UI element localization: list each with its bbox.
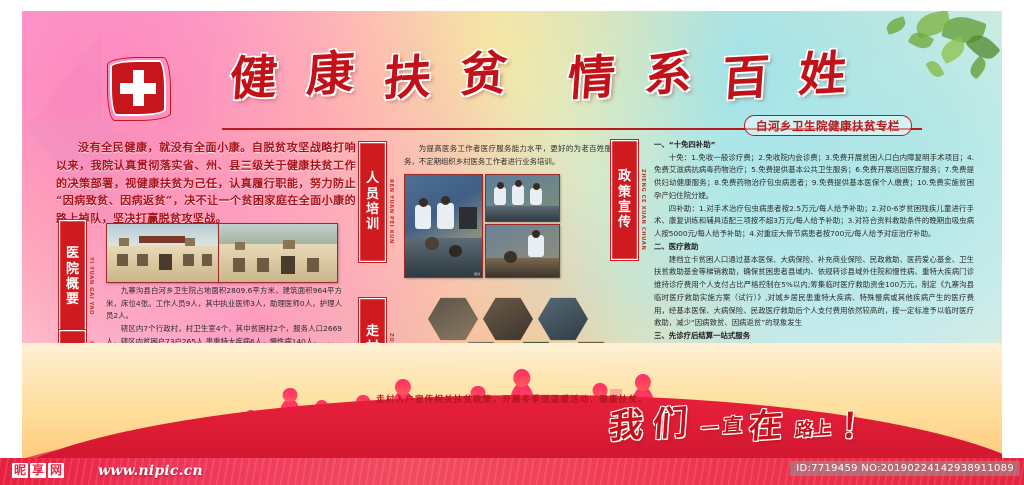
- slogan-char-2: 们: [652, 406, 689, 442]
- photo-village-visit-3: [538, 297, 588, 341]
- policy-heading-text: 一、“十免四补助”: [654, 140, 715, 149]
- photo-village-visit-2: [483, 297, 533, 341]
- hospital-overview-text: 九寨沟县白河乡卫生院占地面积2809.6平方米，建筑面积964平方米，床位4张。…: [106, 285, 342, 349]
- seal-staff-training: 人 员 培 训: [358, 141, 387, 263]
- seal-pinyin-staff-training: REN YUAN PEI XUN: [388, 179, 394, 245]
- slogan-char-4: 直: [722, 416, 742, 436]
- slogan-char-1: 我: [608, 408, 645, 444]
- slogan-char-3: 一: [700, 420, 718, 438]
- seal-char: 走: [366, 324, 379, 339]
- slogan-char-5: 在: [748, 408, 784, 443]
- watermark-url: www.nipic.cn: [98, 463, 203, 479]
- seal-char: 政: [618, 169, 631, 184]
- seal-char: 传: [618, 215, 631, 230]
- policy-body: 四补助：1.对手术治疗包虫病患者按2.5万元/每人给予补助；2.对0-6岁贫困残…: [654, 203, 974, 241]
- logo-char: 享: [30, 463, 46, 478]
- watermark-id-label: ID:7719459 NO:20190224142938911089: [790, 461, 1020, 476]
- photo-village-visit-1: [428, 297, 478, 341]
- bottom-slogan-calligraphy: 我 们 一 直 在 路上 ！: [607, 407, 937, 455]
- title-char-5: 情: [566, 54, 617, 103]
- title-char-4: 贫: [458, 50, 509, 99]
- lead-paragraph: 没有全民健康，就没有全面小康。自脱贫攻坚战略打响以来，我院认真贯彻落实省、州、县…: [56, 139, 356, 228]
- policy-heading-1: 一、“十免四补助”: [654, 139, 974, 152]
- photo-hospital-building-side: [218, 223, 338, 283]
- seal-char: 院: [66, 262, 79, 277]
- photo-training-meeting-large: 培训: [404, 174, 483, 278]
- seal-char: 医: [66, 246, 79, 261]
- policy-body: 建档立卡贫困人口通过基本医保、大病保险、补充商业保险、民政救助、医药爱心基金、卫…: [654, 254, 974, 330]
- photo-caption: 培训: [474, 272, 480, 276]
- policy-heading-3: 三、先诊疗后结算一站式服务: [654, 330, 974, 343]
- seal-char: 员: [366, 187, 379, 202]
- nipic-logo: 昵 享 网: [12, 463, 64, 478]
- seal-char: 概: [66, 277, 79, 292]
- photo-training-group-small: [485, 174, 560, 222]
- footer-watermark-bar: 昵 享 网 www.nipic.cn ID:7719459 NO:2019022…: [0, 458, 1024, 485]
- poster-header: 健 康 扶 贫 情 系 百 姓 白河乡卫生院健康扶贫专栏: [22, 11, 1002, 137]
- logo-char: 网: [48, 463, 64, 478]
- title-char-7: 百: [720, 54, 771, 103]
- subtitle-badge: 白河乡卫生院健康扶贫专栏: [744, 115, 912, 136]
- staff-training-text: 为提高医务工作者医疗服务能力水平，更好的为老百姓服务，不定期组织乡村医务工作者进…: [404, 143, 612, 168]
- seal-char: 培: [366, 202, 379, 217]
- seal-char: 宣: [618, 200, 631, 215]
- policy-heading-text: 二、医疗救助: [654, 242, 698, 251]
- paragraph: 九寨沟县白河乡卫生院占地面积2809.6平方米，建筑面积964平方米，床位4张。…: [106, 285, 342, 323]
- policy-heading-text: 三、先诊疗后结算一站式服务: [654, 331, 750, 340]
- poster-board: 健 康 扶 贫 情 系 百 姓 白河乡卫生院健康扶贫专栏 没有全民健康，就没有全…: [22, 11, 1002, 463]
- photo-training-desk-small: [485, 224, 560, 278]
- policy-heading-2: 二、医疗救助: [654, 241, 974, 254]
- seal-policy-publicity: 政 策 宣 传: [610, 139, 639, 261]
- seal-hospital-overview: 医 院 概 要: [58, 219, 87, 335]
- seal-pinyin-policy-publicity: ZHENG CE XUAN CHUAN: [640, 169, 646, 245]
- paragraph: 为提高医务工作者医疗服务能力水平，更好的为老百姓服务，不定期组织乡村医务工作者进…: [404, 143, 612, 168]
- slogan-char-7: ！: [840, 408, 877, 444]
- logo-char: 昵: [12, 463, 28, 478]
- title-char-8: 姓: [797, 50, 848, 99]
- seal-pinyin-hospital-overview: YI YUAN GAI YAO: [88, 257, 94, 319]
- seal-char: 策: [618, 185, 631, 200]
- medical-cross-icon: [107, 57, 169, 119]
- slogan-char-6: 路上: [794, 420, 832, 440]
- title-char-3: 扶: [382, 54, 433, 103]
- seal-char: 要: [66, 292, 79, 307]
- title-char-2: 康: [305, 50, 356, 99]
- poster-root: 健 康 扶 贫 情 系 百 姓 白河乡卫生院健康扶贫专栏 没有全民健康，就没有全…: [0, 0, 1024, 485]
- bottom-slogan-line: 走村入户宣传相关扶贫政策，开展冬季送温暖活动，健康扶贫。: [22, 393, 1002, 405]
- seal-char: 训: [366, 217, 379, 232]
- seal-char: 人: [366, 171, 379, 186]
- title-char-6: 系: [643, 50, 694, 99]
- photo-hospital-building-front: [106, 223, 220, 283]
- policy-body: 十免：1.免收一般诊疗费；2.免收院内会诊费；3.免费开展贫困人口白内障复明手术…: [654, 152, 974, 203]
- title-char-1: 健: [228, 54, 279, 103]
